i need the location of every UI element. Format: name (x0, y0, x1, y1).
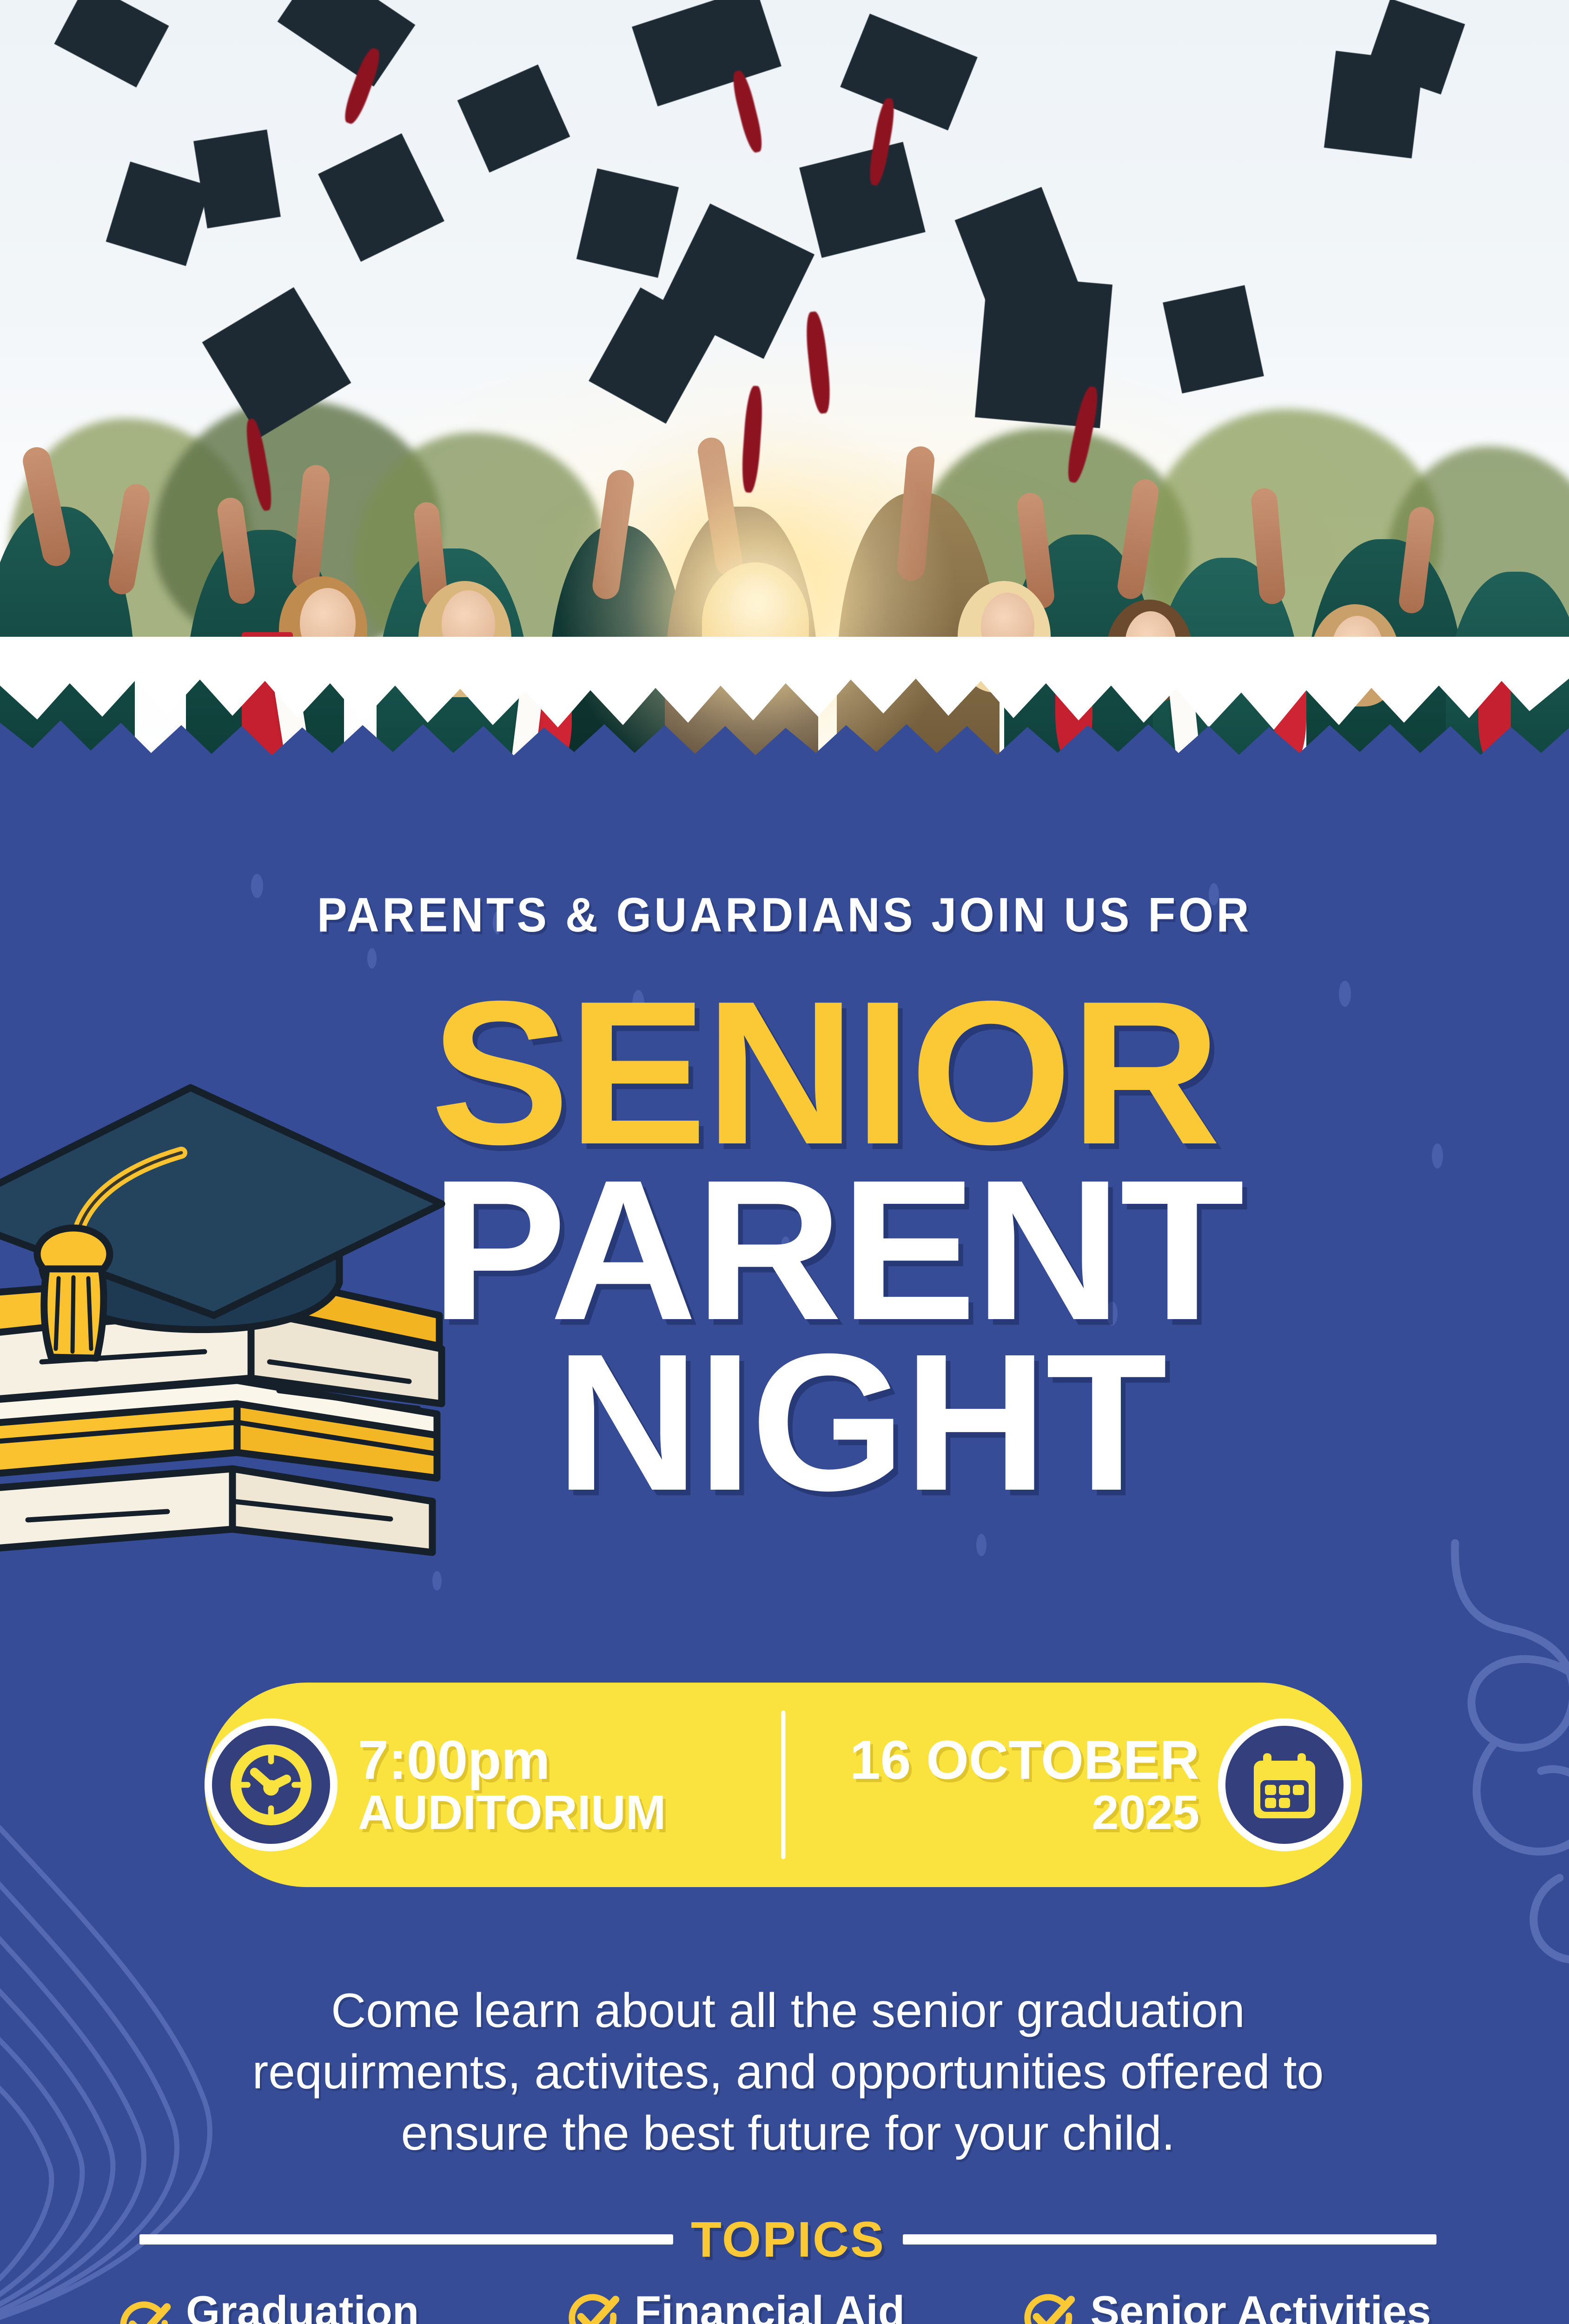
graduation-cap-on-books-illustration (0, 1037, 446, 1585)
topic-item: Senior Activities (1008, 2287, 1464, 2324)
topic-item: Financial Aid (560, 2287, 1009, 2324)
kicker-text: PARENTS & GUARDIANS JOIN US FOR (55, 888, 1514, 943)
speck-decoration (976, 1534, 986, 1556)
date-group: 16 OCTOBER 2025 (783, 1683, 1362, 1887)
check-circle-icon (565, 2287, 622, 2324)
time-location-group: 7:00pm AUDITORIUM (205, 1683, 783, 1887)
speck-decoration (367, 948, 377, 969)
calendar-icon (1218, 1718, 1351, 1851)
check-circle-icon (116, 2294, 174, 2324)
poster-canvas: PARENTS & GUARDIANS JOIN US FOR SENIOR P… (0, 0, 1569, 2324)
topics-heading: TOPICS (691, 2210, 885, 2268)
torn-paper-edge (0, 637, 1569, 762)
header-photo (0, 0, 1569, 762)
topic-label: Financial Aid (635, 2287, 905, 2324)
event-date: 16 OCTOBER (783, 1732, 1199, 1788)
date-text: 16 OCTOBER 2025 (783, 1732, 1199, 1837)
topic-label: Graduation Requirements (186, 2287, 552, 2324)
topic-label: Senior Activities (1090, 2287, 1431, 2324)
topics-heading-row: TOPICS (139, 2210, 1437, 2268)
event-time: 7:00pm (358, 1732, 666, 1788)
graduation-cap-flying (193, 130, 281, 229)
topic-item: Graduation Requirements (116, 2287, 560, 2324)
event-location: AUDITORIUM (358, 1788, 666, 1837)
clock-icon (205, 1718, 338, 1851)
check-circle-icon (1020, 2287, 1078, 2324)
event-year: 2025 (783, 1788, 1199, 1837)
time-location-text: 7:00pm AUDITORIUM (358, 1732, 666, 1837)
event-description: Come learn about all the senior graduati… (200, 1980, 1376, 2164)
topics-row: Graduation Requirements Financial Aid (116, 2287, 1464, 2324)
rule-left (139, 2234, 673, 2245)
rule-right (903, 2234, 1437, 2245)
event-info-pill: 7:00pm AUDITORIUM 16 OCTOBER 2025 (205, 1683, 1362, 1887)
topics-grid: Graduation Requirements Financial Aid (116, 2287, 1464, 2324)
